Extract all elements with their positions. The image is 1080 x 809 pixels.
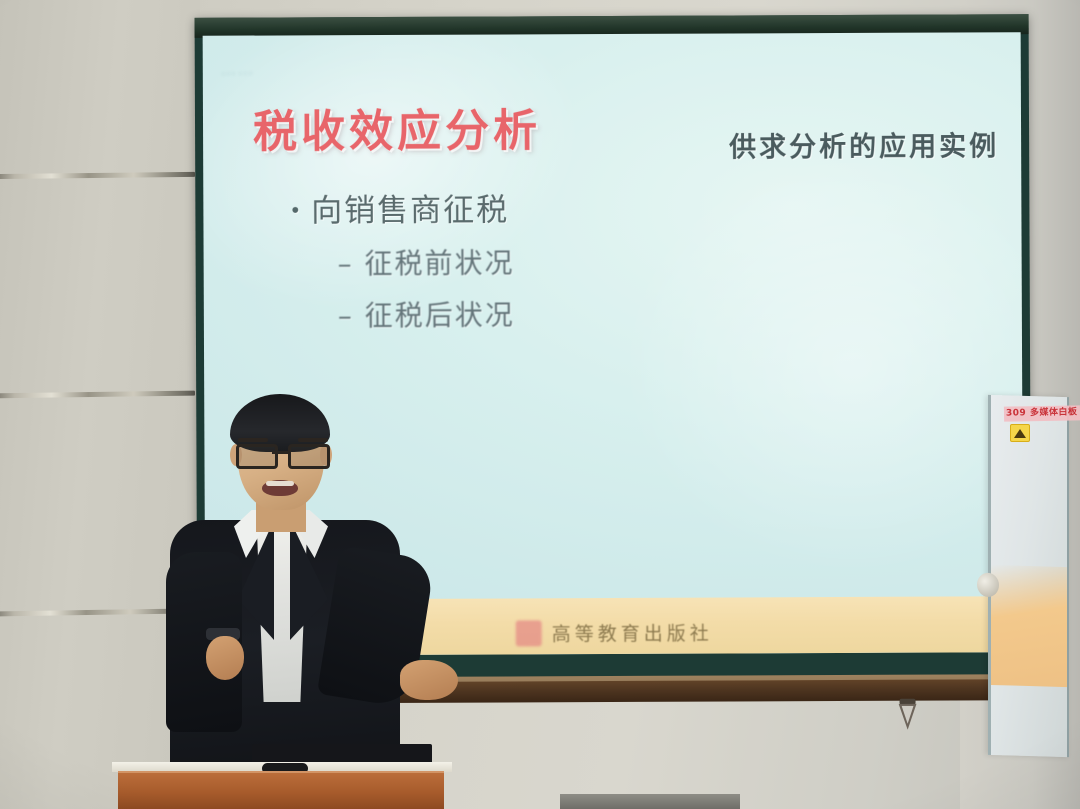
warning-triangle-icon <box>1010 424 1030 442</box>
room-label-sign: 309 多媒体白板 用应 <box>1004 405 1080 421</box>
left-hand <box>206 636 244 680</box>
dash-marker-icon: – <box>338 299 354 332</box>
whiteboard-reflection <box>991 565 1067 687</box>
slide-bullet-list: •向销售商征税 – 征税前状况 – 征税后状况 <box>289 183 850 334</box>
screen-pull-ring-icon[interactable] <box>898 699 918 731</box>
whiteboard-knob[interactable] <box>977 573 999 598</box>
lectern-podium <box>112 762 452 809</box>
eyebrow <box>238 438 268 442</box>
bullet-text: 征税前状况 <box>364 246 514 280</box>
seal-icon <box>516 620 542 646</box>
bullet-item-sub: – 征税后状况 <box>338 292 850 334</box>
presenter <box>150 392 490 792</box>
dash-marker-icon: – <box>338 247 354 280</box>
wall-seam <box>0 172 195 179</box>
mouth <box>262 480 298 496</box>
eyeglasses-icon <box>234 444 328 464</box>
right-hand <box>400 660 458 700</box>
eyebrow <box>298 438 328 442</box>
whiteboard <box>988 395 1069 757</box>
publisher-name: 高等教育出版社 <box>552 619 713 647</box>
bullet-text: 向销售商征税 <box>311 192 509 229</box>
slide-header-strip: …… <box>221 53 551 81</box>
bullet-text: 征税后状况 <box>365 298 515 332</box>
room-label-text: 309 多媒体白板 用应 <box>1004 405 1080 421</box>
publisher-logo: 高等教育出版社 <box>516 619 713 647</box>
side-desk <box>560 794 740 809</box>
bullet-item-primary: •向销售商征税 <box>289 183 849 230</box>
slide-subtitle: 供求分析的应用实例 <box>729 124 999 164</box>
slide-title: 税收效应分析 <box>253 94 541 159</box>
lecture-video-frame: …… 税收效应分析 供求分析的应用实例 •向销售商征税 – 征税前状况 – 征税… <box>0 0 1080 809</box>
podium-monitor <box>252 744 432 764</box>
bullet-item-sub: – 征税前状况 <box>338 240 850 282</box>
bullet-marker-icon: • <box>289 198 303 222</box>
podium-front-panel <box>118 771 444 809</box>
